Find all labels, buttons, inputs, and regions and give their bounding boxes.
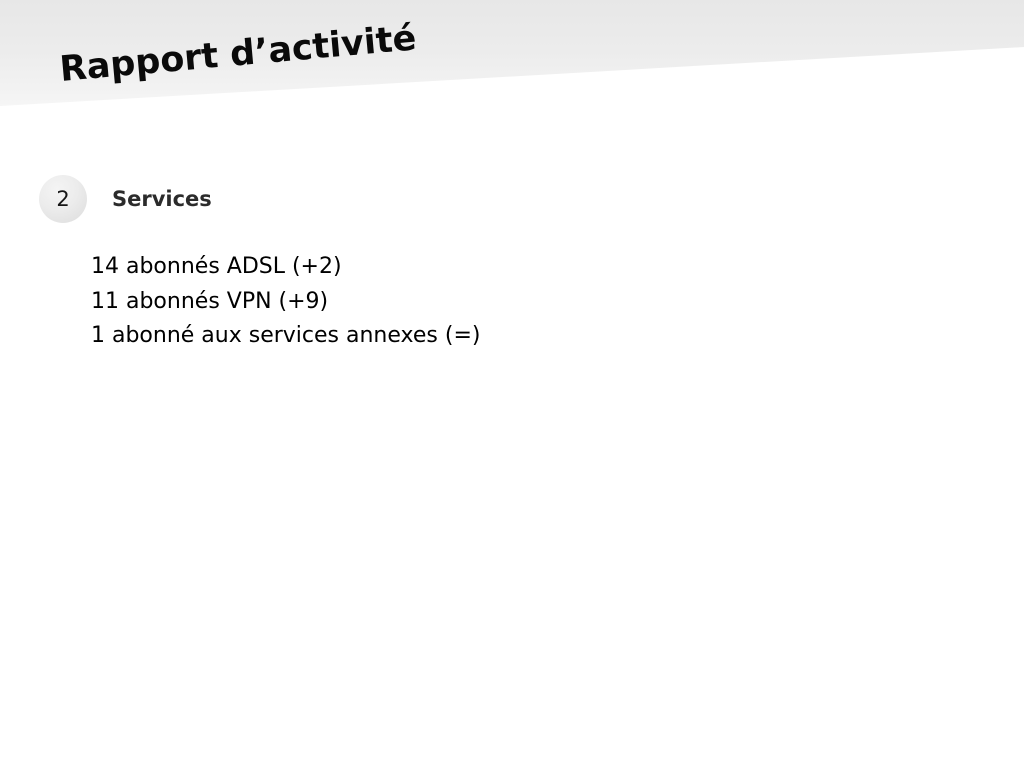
section-number-badge: 2 (39, 175, 87, 223)
body-line: 11 abonnés VPN (+9) (91, 285, 971, 320)
section-heading: 2 Services (39, 175, 212, 223)
section-title: Services (112, 187, 212, 211)
body-line: 1 abonné aux services annexes (=) (91, 319, 971, 354)
slide-canvas: Rapport d’activité 2 Services 14 abonnés… (0, 0, 1024, 768)
body-line: 14 abonnés ADSL (+2) (91, 250, 971, 285)
section-number-label: 2 (56, 187, 69, 211)
body-text-block: 14 abonnés ADSL (+2) 11 abonnés VPN (+9)… (91, 250, 971, 354)
